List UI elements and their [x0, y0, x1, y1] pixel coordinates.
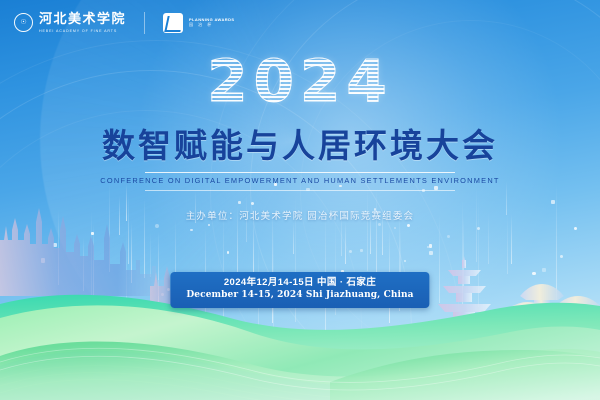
seal-glyph: ☉ — [20, 19, 26, 26]
subtitle-english: CONFERENCE ON DIGITAL EMPOWERMENT AND HU… — [0, 176, 600, 185]
page-title: 数智赋能与人居环境大会 — [0, 126, 600, 166]
logo-planning-awards[interactable]: PLANNING AWARDS 园 冶 杯 — [163, 13, 234, 33]
logo-hebei-academy[interactable]: ☉ 河北美术学院 HEBEI ACADEMY OF FINE ARTS — [14, 13, 126, 33]
conference-poster: ☉ 河北美术学院 HEBEI ACADEMY OF FINE ARTS PLAN… — [0, 0, 600, 400]
planning-awards-mark-icon — [163, 13, 183, 33]
light-particle — [339, 185, 342, 188]
title-rule-bottom — [145, 190, 455, 191]
year-2024: 2024 — [0, 52, 600, 110]
date-badge: 2024年12月14-15日 中国 · 石家庄 December 14-15, … — [170, 272, 429, 308]
academy-name-zh: 河北美术学院 — [39, 13, 126, 27]
academy-name-en: HEBEI ACADEMY OF FINE ARTS — [39, 29, 126, 33]
date-english: December 14-15, 2024 Shi Jiazhuang, Chin… — [186, 290, 413, 302]
logo-bar: ☉ 河北美术学院 HEBEI ACADEMY OF FINE ARTS PLAN… — [14, 12, 234, 34]
planning-awards-name-zh: 园 冶 杯 — [189, 23, 234, 28]
organizer-line: 主办单位：河北美术学院 园冶杯国际竞赛组委会 — [0, 208, 600, 222]
academy-seal-icon: ☉ — [14, 13, 33, 32]
date-chinese: 2024年12月14-15日 中国 · 石家庄 — [186, 277, 413, 290]
title-rule-top — [145, 172, 455, 173]
logo-divider — [144, 12, 145, 34]
